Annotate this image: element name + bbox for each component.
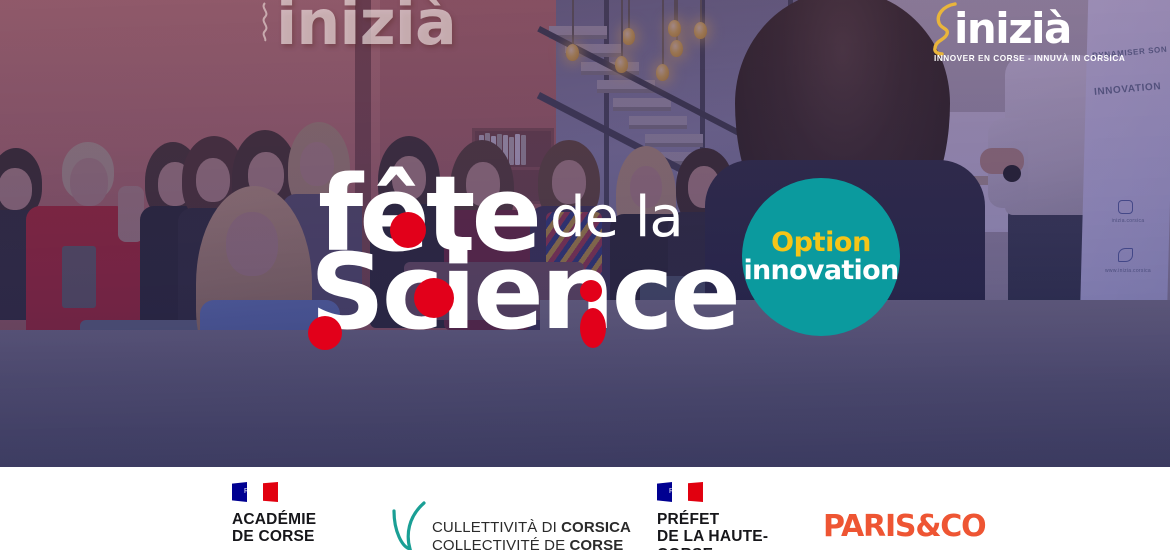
french-flag-icon: RF	[657, 482, 703, 502]
option-innovation-badge[interactable]: Option innovation	[742, 178, 900, 336]
corsica-check-icon	[392, 501, 428, 550]
inizia-wordmark: inizià	[954, 8, 1071, 50]
wall-squiggle-icon	[258, 2, 272, 42]
inizia-tagline: INNOVER EN CORSE - INNUVÀ IN CORSICA	[934, 54, 1125, 63]
accent-dot	[308, 316, 342, 350]
prefet-de-la-haute-corse-logo[interactable]: RF PRÉFET DE LA HAUTE- CORSE	[657, 482, 768, 550]
inizia-logo[interactable]: inizià INNOVER EN CORSE - INNUVÀ IN CORS…	[930, 2, 1100, 72]
prefet-title-line1: PRÉFET	[657, 511, 768, 528]
prefet-title-line2: DE LA HAUTE-	[657, 528, 768, 545]
accent-dot	[580, 280, 602, 302]
fete-de-la-science-logo: fêtede la Science	[318, 168, 738, 318]
academie-title-line2: DE CORSE	[232, 528, 316, 545]
accent-dot	[580, 308, 606, 348]
badge-line-option: Option	[771, 229, 871, 257]
hero-banner: DYNAMISER SON INNOVATION inizia.corsica …	[0, 0, 1170, 467]
prefet-title-line3: CORSE	[657, 546, 768, 550]
logo-line-2: Science	[310, 246, 738, 340]
collectivite-line2: COLLECTIVITÉ DE CORSE	[432, 537, 631, 550]
accent-dot	[390, 212, 426, 248]
paris-and-co-logo[interactable]: PARIS&CO	[823, 509, 985, 544]
french-flag-icon: RF	[232, 482, 278, 502]
partner-logos-footer: RF ACADÉMIE DE CORSE Liberté Égalité CUL…	[0, 467, 1170, 550]
page-root: DYNAMISER SON INNOVATION inizia.corsica …	[0, 0, 1170, 550]
collectivite-line1: CULLETTIVITÀ DI CORSICA	[432, 519, 631, 536]
accent-dot	[414, 278, 454, 318]
wall-sign-inizia: inizià	[276, 0, 456, 59]
academie-title-line1: ACADÉMIE	[232, 511, 316, 528]
paris-and-co-wordmark: PARIS&CO	[823, 509, 985, 544]
collectivite-de-corse-logo[interactable]: CULLETTIVITÀ DI CORSICA COLLECTIVITÉ DE …	[392, 505, 631, 550]
academie-de-corse-logo[interactable]: RF ACADÉMIE DE CORSE Liberté Égalité	[232, 482, 316, 550]
badge-line-innovation: innovation	[743, 257, 898, 285]
